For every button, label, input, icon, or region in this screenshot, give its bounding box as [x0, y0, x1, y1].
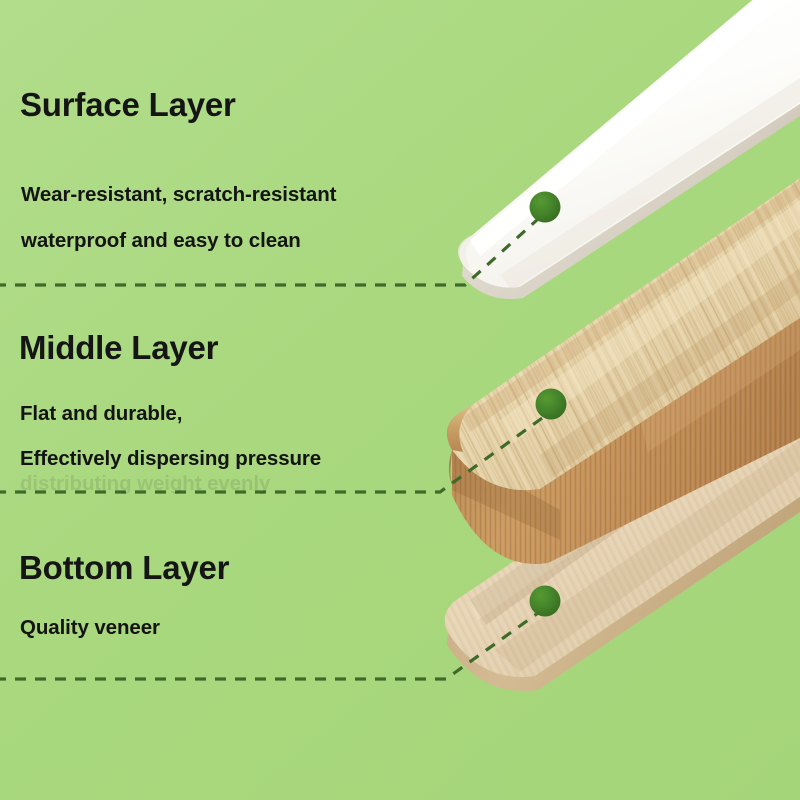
middle-layer-desc-text-1: Flat and durable,: [20, 404, 182, 425]
middle-layer-desc-text-3: distributing weight evenly: [20, 474, 270, 495]
middle-layer-title-text: Middle Layer: [19, 331, 218, 364]
marker-dot-middle: [536, 389, 567, 420]
middle-layer-desc-text-2: Effectively dispersing pressure: [20, 449, 321, 470]
bottom-layer-title: Bottom Layer: [19, 551, 229, 584]
middle-layer-desc-line-2: Effectively dispersing pressure: [20, 449, 321, 470]
layer-diagram-canvas: Surface Layer Wear-resistant, scratch-re…: [0, 0, 800, 800]
middle-layer-desc-line-1: Flat and durable,: [20, 404, 182, 425]
surface-layer-desc-text-1: Wear-resistant, scratch-resistant: [21, 185, 336, 206]
middle-layer-desc-line-3: distributing weight evenly: [20, 474, 270, 495]
bottom-layer-desc-text-1: Quality veneer: [20, 618, 160, 639]
middle-layer-title: Middle Layer: [19, 331, 218, 364]
surface-layer-desc-text-2: waterproof and easy to clean: [21, 231, 301, 252]
marker-dot-bottom: [530, 586, 561, 617]
marker-dot-surface: [530, 192, 561, 223]
surface-layer-title: Surface Layer: [20, 88, 236, 121]
surface-layer-title-text: Surface Layer: [20, 88, 236, 121]
bottom-layer-desc-line-1: Quality veneer: [20, 618, 160, 639]
surface-layer-desc-line-2: waterproof and easy to clean: [21, 231, 301, 252]
bottom-layer-title-text: Bottom Layer: [19, 551, 229, 584]
surface-layer-desc-line-1: Wear-resistant, scratch-resistant: [21, 185, 336, 206]
